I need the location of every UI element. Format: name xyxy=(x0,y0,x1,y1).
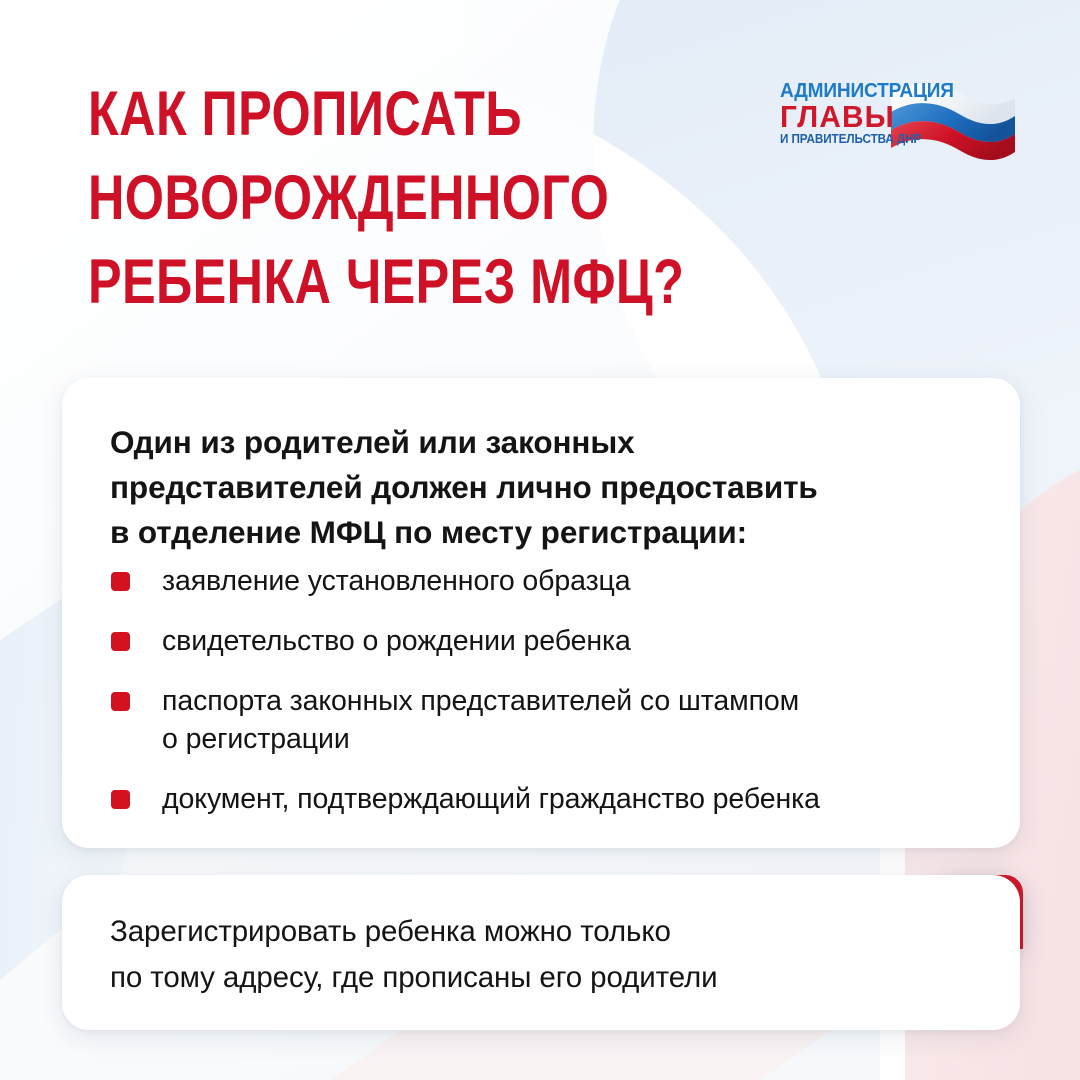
list-item-label: заявление установленного образца xyxy=(162,562,1000,600)
intro-line-2: представителей должен лично предоставить xyxy=(110,465,990,510)
header: КАК ПРОПИСАТЬ НОВОРОЖДЕННОГО РЕБЕНКА ЧЕР… xyxy=(0,0,1080,378)
page-title-line-3: РЕБЕНКА ЧЕРЕЗ МФЦ? xyxy=(88,240,648,324)
note-line-2: по тому адресу, где прописаны его родите… xyxy=(110,955,980,1001)
list-item-label-line-2: о регистрации xyxy=(162,720,1000,758)
logo-line-government: И ПРАВИТЕЛЬСТВА ДНР xyxy=(780,132,940,147)
list-item-label: свидетельство о рождении ребенка xyxy=(162,622,1000,660)
bullet-square-icon xyxy=(111,790,130,809)
logo-line-administration: АДМИНИСТРАЦИЯ xyxy=(780,80,940,101)
list-item-label-line-1: паспорта законных представителей со штам… xyxy=(162,682,1000,720)
bullet-square-icon xyxy=(111,572,130,591)
intro-line-3: в отделение МФЦ по месту регистрации: xyxy=(110,510,990,555)
list-item-label: паспорта законных представителей со штам… xyxy=(162,682,1000,758)
bullet-square-icon xyxy=(111,632,130,651)
documents-card: Один из родителей или законных представи… xyxy=(62,378,1020,848)
list-item: документ, подтверждающий гражданство реб… xyxy=(110,780,1000,818)
organization-logo: АДМИНИСТРАЦИЯ ГЛАВЫ И ПРАВИТЕЛЬСТВА ДНР xyxy=(780,80,1020,180)
note-paragraph: Зарегистрировать ребенка можно только по… xyxy=(110,909,980,1001)
page-title: КАК ПРОПИСАТЬ НОВОРОЖДЕННОГО РЕБЕНКА ЧЕР… xyxy=(88,72,788,324)
note-card: Зарегистрировать ребенка можно только по… xyxy=(62,875,1020,1030)
page-title-line-1: КАК ПРОПИСАТЬ xyxy=(88,72,648,156)
list-item-label: документ, подтверждающий гражданство реб… xyxy=(162,780,1000,818)
logo-wordmark: АДМИНИСТРАЦИЯ ГЛАВЫ И ПРАВИТЕЛЬСТВА ДНР xyxy=(780,80,952,147)
page-title-line-2: НОВОРОЖДЕННОГО xyxy=(88,156,648,240)
list-item: паспорта законных представителей со штам… xyxy=(110,682,1000,758)
bullet-square-icon xyxy=(111,692,130,711)
list-item: свидетельство о рождении ребенка xyxy=(110,622,1000,660)
intro-paragraph: Один из родителей или законных представи… xyxy=(110,420,990,555)
logo-line-head: ГЛАВЫ xyxy=(780,101,945,132)
intro-line-1: Один из родителей или законных xyxy=(110,420,990,465)
note-line-1: Зарегистрировать ребенка можно только xyxy=(110,909,980,955)
documents-list: заявление установленного образца свидете… xyxy=(110,562,1000,818)
list-item: заявление установленного образца xyxy=(110,562,1000,600)
